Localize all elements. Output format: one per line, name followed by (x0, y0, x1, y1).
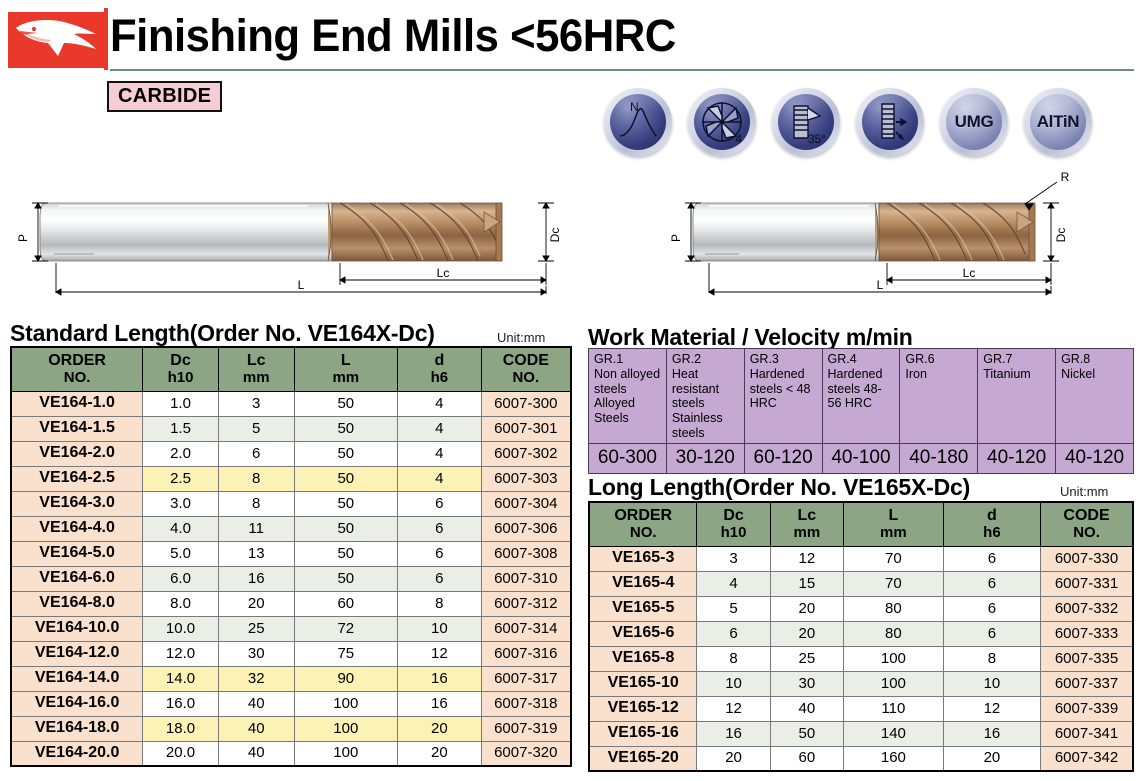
cell-code-no: 6007-301 (481, 416, 571, 441)
cell-code-no: 6007-333 (1041, 621, 1133, 646)
cell-d: 10 (398, 616, 482, 641)
badge-flute-count: 4 (735, 132, 742, 146)
table-row: VE164-5.05.0135066007-308 (11, 541, 571, 566)
cell-d: 6 (398, 566, 482, 591)
badge-shank (856, 88, 924, 156)
table-row: VE164-4.04.0115066007-306 (11, 516, 571, 541)
cell-dc: 12.0 (143, 641, 219, 666)
cell-dc: 3 (697, 546, 770, 571)
cell-lc: 25 (770, 646, 843, 671)
cell-order-no: VE165-4 (589, 571, 697, 596)
col-d: d h6 (398, 347, 482, 391)
work-material-group: GR.2Heat resistant steels Stainless stee… (666, 349, 744, 444)
svg-text:Dc: Dc (548, 228, 562, 243)
cell-l: 50 (294, 566, 398, 591)
work-material-group: GR.4Hardened steels 48-56 HRC (822, 349, 900, 444)
group-velocity: 60-120 (744, 443, 822, 473)
table-row: VE164-18.018.040100206007-319 (11, 716, 571, 741)
cell-lc: 15 (770, 571, 843, 596)
svg-text:Lc: Lc (437, 266, 450, 280)
cell-order-no: VE164-2.0 (11, 441, 143, 466)
cell-order-no: VE164-2.5 (11, 466, 143, 491)
table-row: VE164-10.010.02572106007-314 (11, 616, 571, 641)
cell-d: 12 (398, 641, 482, 666)
group-description: Iron (905, 367, 973, 382)
table-header-row: ORDER NO. Dc h10 Lc mm L mm d h6 CODE NO… (589, 502, 1133, 546)
group-description: Hardened steels 48-56 HRC (828, 367, 896, 411)
cell-l: 70 (844, 546, 944, 571)
svg-text:Lc: Lc (963, 266, 976, 280)
cell-l: 72 (294, 616, 398, 641)
cell-code-no: 6007-317 (481, 666, 571, 691)
group-description: Non alloyed steels Alloyed Steels (594, 367, 662, 426)
table-row: VE164-20.020.040100206007-320 (11, 741, 571, 766)
cell-l: 80 (844, 596, 944, 621)
col-order-no: ORDER NO. (589, 502, 697, 546)
cell-lc: 8 (218, 491, 294, 516)
cell-d: 4 (398, 391, 482, 416)
standard-length-title: Standard Length(Order No. VE164X-Dc) (10, 320, 435, 347)
cell-l: 60 (294, 591, 398, 616)
cell-order-no: VE165-5 (589, 596, 697, 621)
cell-code-no: 6007-335 (1041, 646, 1133, 671)
group-description: Nickel (1061, 367, 1129, 382)
table-row: VE165-55208066007-332 (589, 596, 1133, 621)
svg-text:P: P (669, 234, 683, 242)
eagle-head-logo (8, 12, 104, 68)
cell-code-no: 6007-314 (481, 616, 571, 641)
cell-lc: 30 (218, 641, 294, 666)
group-velocity: 40-100 (822, 443, 900, 473)
col-d: d h6 (943, 502, 1040, 546)
table-row: VE164-1.51.555046007-301 (11, 416, 571, 441)
svg-text:P: P (16, 234, 30, 242)
cell-dc: 1.0 (143, 391, 219, 416)
cell-lc: 40 (770, 696, 843, 721)
cell-dc: 5.0 (143, 541, 219, 566)
cell-order-no: VE165-10 (589, 671, 697, 696)
long-length-endmill-drawing: R P Dc Lc (665, 168, 1135, 296)
badge-umg: UMG (940, 88, 1008, 156)
group-label: GR.1 (594, 352, 662, 367)
long-length-table: ORDER NO. Dc h10 Lc mm L mm d h6 CODE NO… (588, 501, 1134, 772)
table-row: VE164-14.014.03290166007-317 (11, 666, 571, 691)
cell-lc: 40 (218, 691, 294, 716)
cell-order-no: VE164-14.0 (11, 666, 143, 691)
table-row: VE164-1.01.035046007-300 (11, 391, 571, 416)
table-row: VE164-16.016.040100166007-318 (11, 691, 571, 716)
cell-code-no: 6007-319 (481, 716, 571, 741)
work-material-group: GR.6Iron (900, 349, 978, 444)
cell-d: 6 (943, 621, 1040, 646)
cell-d: 16 (398, 691, 482, 716)
group-label: GR.6 (905, 352, 973, 367)
badge-profile-n: N (604, 88, 672, 156)
col-lc: Lc mm (770, 502, 843, 546)
badge-label-altin: AlTiN (1037, 112, 1080, 132)
cell-d: 16 (943, 721, 1040, 746)
cell-code-no: 6007-331 (1041, 571, 1133, 596)
cell-l: 100 (294, 691, 398, 716)
table-row: VE165-33127066007-330 (589, 546, 1133, 571)
cell-code-no: 6007-318 (481, 691, 571, 716)
table-row: VE165-161650140166007-341 (589, 721, 1133, 746)
cell-dc: 4 (697, 571, 770, 596)
group-velocity: 40-120 (978, 443, 1056, 473)
badge-altin: AlTiN (1024, 88, 1092, 156)
cell-code-no: 6007-310 (481, 566, 571, 591)
work-material-title: Work Material / Velocity m/min (588, 324, 913, 351)
cell-dc: 1.5 (143, 416, 219, 441)
cell-dc: 20.0 (143, 741, 219, 766)
cell-code-no: 6007-337 (1041, 671, 1133, 696)
cell-d: 4 (398, 466, 482, 491)
cell-d: 6 (943, 596, 1040, 621)
work-material-group: GR.8Nickel (1056, 349, 1134, 444)
group-label: GR.2 (672, 352, 740, 367)
table-row: VE165-121240110126007-339 (589, 696, 1133, 721)
cell-lc: 5 (218, 416, 294, 441)
table-header-row: ORDER NO. Dc h10 Lc mm L mm d h6 CODE NO… (11, 347, 571, 391)
long-length-unit: Unit:mm (1060, 484, 1108, 499)
cell-l: 75 (294, 641, 398, 666)
cell-order-no: VE164-5.0 (11, 541, 143, 566)
table-row: VE165-101030100106007-337 (589, 671, 1133, 696)
cell-dc: 8 (697, 646, 770, 671)
cell-l: 90 (294, 666, 398, 691)
cell-l: 100 (294, 741, 398, 766)
cell-code-no: 6007-339 (1041, 696, 1133, 721)
cell-code-no: 6007-312 (481, 591, 571, 616)
cell-l: 50 (294, 541, 398, 566)
col-l: L mm (294, 347, 398, 391)
cell-order-no: VE164-10.0 (11, 616, 143, 641)
cell-dc: 8.0 (143, 591, 219, 616)
cell-l: 110 (844, 696, 944, 721)
cell-d: 20 (398, 741, 482, 766)
page-title: Finishing End Mills <56HRC (110, 8, 676, 64)
cell-d: 8 (398, 591, 482, 616)
material-tag-carbide: CARBIDE (107, 81, 222, 112)
cell-code-no: 6007-302 (481, 441, 571, 466)
svg-text:L: L (298, 278, 305, 292)
cell-code-no: 6007-308 (481, 541, 571, 566)
cell-d: 20 (398, 716, 482, 741)
title-accent-bar (104, 8, 108, 70)
cell-code-no: 6007-304 (481, 491, 571, 516)
cell-lc: 40 (218, 716, 294, 741)
cell-l: 50 (294, 391, 398, 416)
cell-d: 16 (398, 666, 482, 691)
cell-l: 50 (294, 466, 398, 491)
cell-lc: 3 (218, 391, 294, 416)
work-material-table: GR.1Non alloyed steels Alloyed SteelsGR.… (588, 348, 1134, 474)
work-material-group: GR.3Hardened steels < 48 HRC (744, 349, 822, 444)
cell-lc: 16 (218, 566, 294, 591)
cell-dc: 18.0 (143, 716, 219, 741)
badge-label-n: N (630, 100, 639, 114)
col-l: L mm (844, 502, 944, 546)
badge-label-umg: UMG (955, 112, 994, 132)
group-label: GR.8 (1061, 352, 1129, 367)
cell-l: 100 (294, 716, 398, 741)
cell-lc: 25 (218, 616, 294, 641)
cell-code-no: 6007-332 (1041, 596, 1133, 621)
cell-dc: 10 (697, 671, 770, 696)
cell-lc: 30 (770, 671, 843, 696)
standard-length-unit: Unit:mm (497, 330, 545, 345)
cell-code-no: 6007-320 (481, 741, 571, 766)
cell-dc: 14.0 (143, 666, 219, 691)
title-rule (110, 69, 1134, 71)
cell-dc: 16 (697, 721, 770, 746)
cell-order-no: VE165-12 (589, 696, 697, 721)
cell-order-no: VE164-18.0 (11, 716, 143, 741)
col-lc: Lc mm (218, 347, 294, 391)
table-row: VE164-3.03.085066007-304 (11, 491, 571, 516)
table-row: VE165-66208066007-333 (589, 621, 1133, 646)
cell-d: 6 (943, 546, 1040, 571)
cell-d: 20 (943, 746, 1040, 771)
cell-d: 4 (398, 416, 482, 441)
group-label: GR.3 (750, 352, 818, 367)
svg-text:L: L (877, 278, 884, 292)
cell-lc: 20 (770, 596, 843, 621)
cell-dc: 12 (697, 696, 770, 721)
cell-d: 4 (398, 441, 482, 466)
cell-code-no: 6007-300 (481, 391, 571, 416)
cell-order-no: VE164-4.0 (11, 516, 143, 541)
group-velocity: 40-120 (1056, 443, 1134, 473)
cell-order-no: VE165-20 (589, 746, 697, 771)
cell-d: 6 (398, 516, 482, 541)
cell-lc: 50 (770, 721, 843, 746)
cell-d: 6 (943, 571, 1040, 596)
cell-d: 6 (398, 541, 482, 566)
cell-order-no: VE164-12.0 (11, 641, 143, 666)
cell-lc: 13 (218, 541, 294, 566)
long-length-title: Long Length(Order No. VE165X-Dc) (588, 474, 970, 501)
cell-dc: 5 (697, 596, 770, 621)
cell-lc: 20 (770, 621, 843, 646)
standard-length-endmill-drawing: P Dc Lc L (10, 168, 570, 296)
cell-lc: 6 (218, 441, 294, 466)
badge-flutes-4: 4 (688, 88, 756, 156)
cell-code-no: 6007-306 (481, 516, 571, 541)
cell-code-no: 6007-342 (1041, 746, 1133, 771)
cell-dc: 20 (697, 746, 770, 771)
col-order-no: ORDER NO. (11, 347, 143, 391)
cell-d: 12 (943, 696, 1040, 721)
group-description: Hardened steels < 48 HRC (750, 367, 818, 411)
cell-dc: 10.0 (143, 616, 219, 641)
group-velocity: 60-300 (589, 443, 667, 473)
cell-l: 50 (294, 516, 398, 541)
cell-order-no: VE164-6.0 (11, 566, 143, 591)
cell-l: 100 (844, 671, 944, 696)
cell-order-no: VE164-1.5 (11, 416, 143, 441)
cell-code-no: 6007-303 (481, 466, 571, 491)
badge-helix-angle: 35° (808, 132, 826, 146)
cell-lc: 32 (218, 666, 294, 691)
cell-l: 80 (844, 621, 944, 646)
table-row: VE165-44157066007-331 (589, 571, 1133, 596)
cell-l: 160 (844, 746, 944, 771)
cell-lc: 12 (770, 546, 843, 571)
col-code-no: CODE NO. (481, 347, 571, 391)
cell-d: 6 (398, 491, 482, 516)
cell-order-no: VE164-20.0 (11, 741, 143, 766)
svg-text:Dc: Dc (1054, 228, 1068, 243)
cell-order-no: VE165-3 (589, 546, 697, 571)
cell-d: 8 (943, 646, 1040, 671)
group-description: Heat resistant steels Stainless steels (672, 367, 740, 441)
work-material-velocity-row: 60-30030-12060-12040-10040-18040-12040-1… (589, 443, 1134, 473)
col-dc: Dc h10 (143, 347, 219, 391)
page-header: Finishing End Mills <56HRC (0, 0, 1141, 76)
cell-order-no: VE164-16.0 (11, 691, 143, 716)
cell-order-no: VE164-1.0 (11, 391, 143, 416)
group-description: Titanium (983, 367, 1051, 382)
work-material-group-row: GR.1Non alloyed steels Alloyed SteelsGR.… (589, 349, 1134, 444)
cell-order-no: VE165-6 (589, 621, 697, 646)
table-row: VE164-2.02.065046007-302 (11, 441, 571, 466)
cell-code-no: 6007-341 (1041, 721, 1133, 746)
group-label: GR.7 (983, 352, 1051, 367)
cell-l: 50 (294, 416, 398, 441)
cell-lc: 60 (770, 746, 843, 771)
cell-dc: 16.0 (143, 691, 219, 716)
cell-d: 10 (943, 671, 1040, 696)
table-row: VE165-882510086007-335 (589, 646, 1133, 671)
work-material-group: GR.7Titanium (978, 349, 1056, 444)
cell-l: 50 (294, 491, 398, 516)
cell-dc: 6.0 (143, 566, 219, 591)
work-material-group: GR.1Non alloyed steels Alloyed Steels (589, 349, 667, 444)
cell-lc: 40 (218, 741, 294, 766)
cell-dc: 2.5 (143, 466, 219, 491)
table-row: VE165-202060160206007-342 (589, 746, 1133, 771)
cell-l: 140 (844, 721, 944, 746)
cell-order-no: VE165-16 (589, 721, 697, 746)
cell-order-no: VE164-3.0 (11, 491, 143, 516)
cell-l: 50 (294, 441, 398, 466)
col-dc: Dc h10 (697, 502, 770, 546)
badge-helix-35: 35° (772, 88, 840, 156)
cell-dc: 6 (697, 621, 770, 646)
cell-code-no: 6007-316 (481, 641, 571, 666)
cell-lc: 20 (218, 591, 294, 616)
table-row: VE164-2.52.585046007-303 (11, 466, 571, 491)
table-row: VE164-12.012.03075126007-316 (11, 641, 571, 666)
svg-text:R: R (1061, 170, 1070, 184)
group-velocity: 30-120 (666, 443, 744, 473)
col-code-no: CODE NO. (1041, 502, 1133, 546)
cell-code-no: 6007-330 (1041, 546, 1133, 571)
cell-lc: 11 (218, 516, 294, 541)
cell-dc: 2.0 (143, 441, 219, 466)
cell-order-no: VE164-8.0 (11, 591, 143, 616)
cell-dc: 3.0 (143, 491, 219, 516)
group-velocity: 40-180 (900, 443, 978, 473)
cell-dc: 4.0 (143, 516, 219, 541)
cell-l: 100 (844, 646, 944, 671)
cell-lc: 8 (218, 466, 294, 491)
cell-l: 70 (844, 571, 944, 596)
table-row: VE164-6.06.0165066007-310 (11, 566, 571, 591)
table-row: VE164-8.08.0206086007-312 (11, 591, 571, 616)
cell-order-no: VE165-8 (589, 646, 697, 671)
group-label: GR.4 (828, 352, 896, 367)
standard-length-table: ORDER NO. Dc h10 Lc mm L mm d h6 CODE NO… (10, 346, 572, 767)
